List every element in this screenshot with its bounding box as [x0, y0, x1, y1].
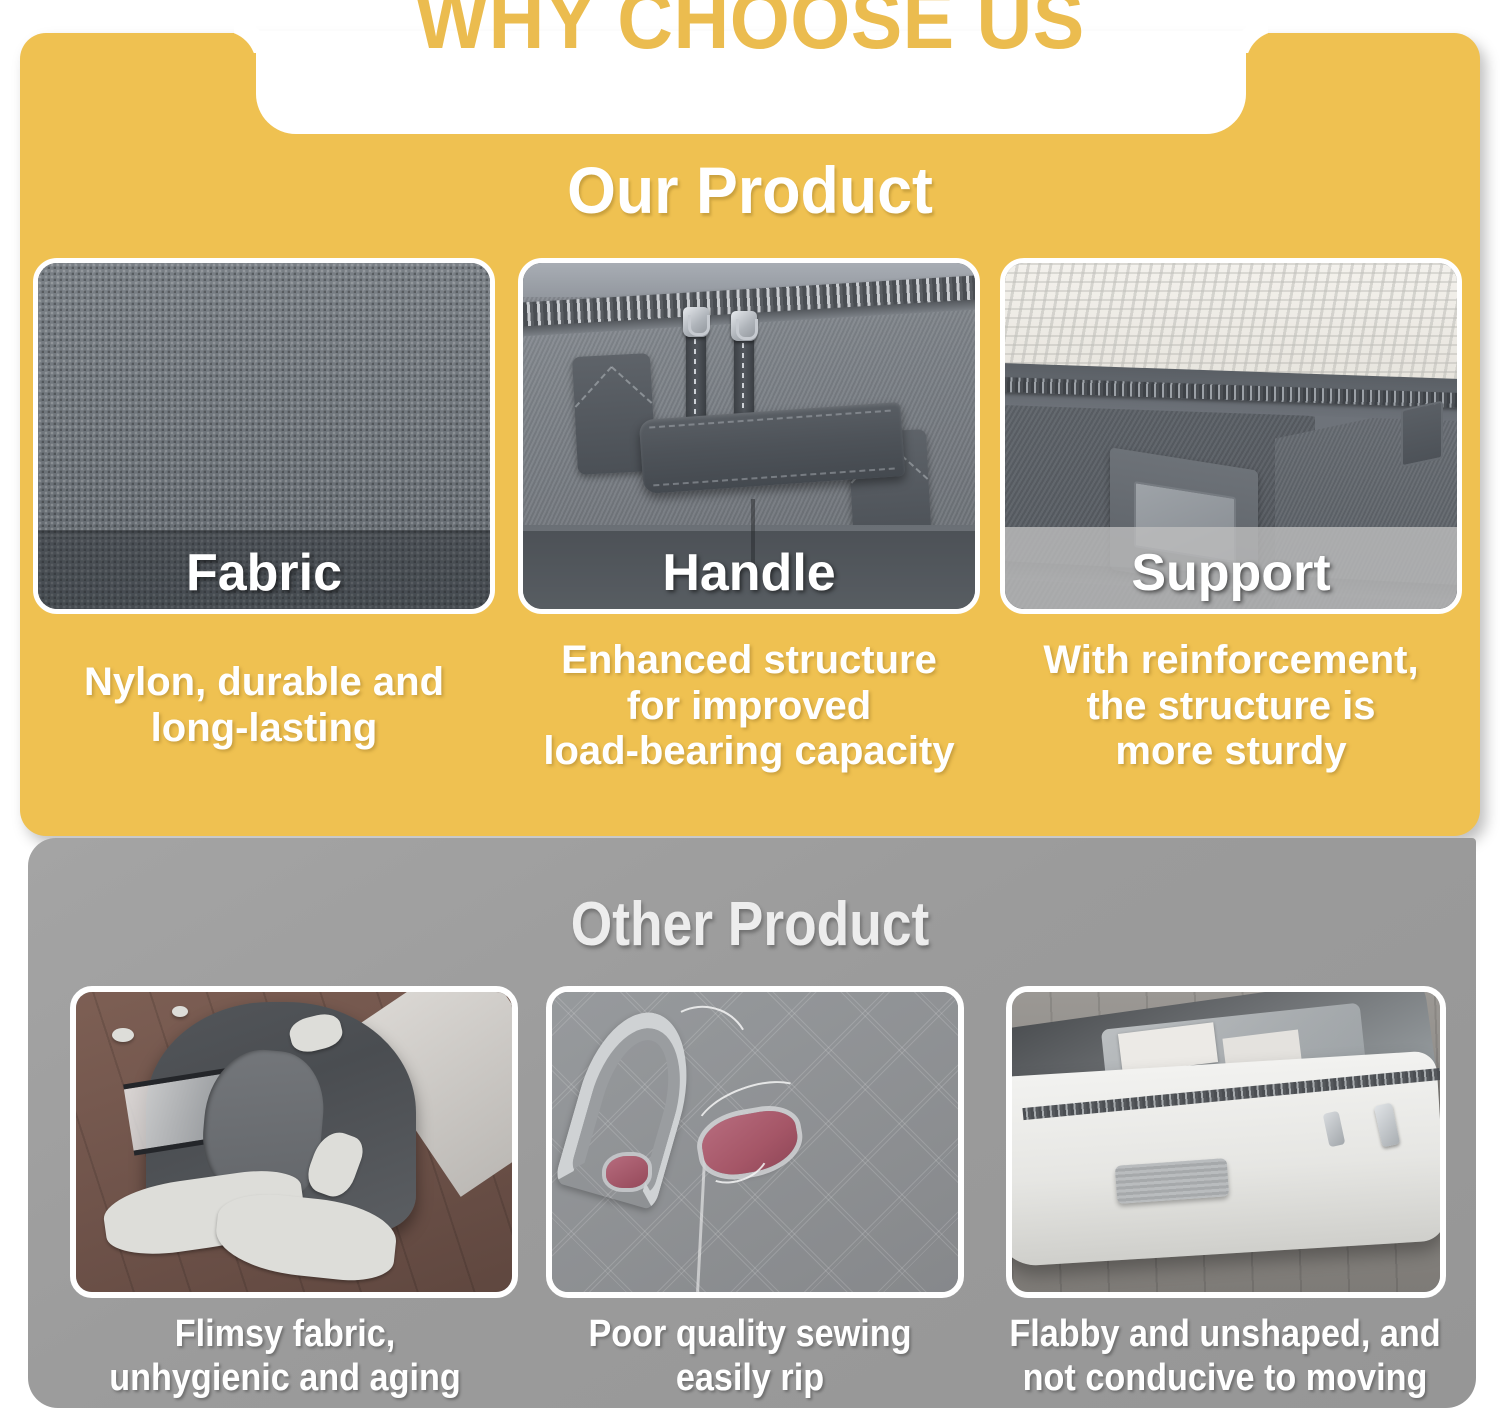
caption-line: Poor quality sewing	[552, 1312, 948, 1356]
flabby-bag-photo	[1012, 992, 1440, 1292]
peeling-debris	[172, 1006, 188, 1017]
side-handle-tab	[1401, 401, 1443, 468]
our-product-tile-support[interactable]: Support	[1000, 258, 1462, 614]
caption-support: With reinforcement, the structure is mor…	[1000, 638, 1462, 775]
poor-sewing-photo	[552, 992, 958, 1292]
page-title: WHY CHOOSE US	[53, 0, 1448, 68]
tile-label-support: Support	[1005, 543, 1457, 609]
our-product-heading: Our Product	[38, 152, 1463, 228]
caption-line: unhygienic and aging	[65, 1356, 506, 1400]
peeling-debris	[112, 1028, 134, 1042]
tile-label-handle: Handle	[523, 543, 975, 609]
caption-line: for improved	[510, 684, 988, 730]
caption-flabby: Flabby and unshaped, and not conducive t…	[1000, 1312, 1450, 1400]
other-product-tile-sewing[interactable]	[546, 986, 964, 1298]
caption-line: more sturdy	[1000, 729, 1462, 775]
caption-fabric: Nylon, durable and long-lasting	[33, 660, 495, 751]
webbing-handle	[1115, 1158, 1229, 1204]
zipper-pull-right	[731, 311, 757, 341]
why-choose-us-infographic: WHY CHOOSE US Our Product Fabric	[0, 0, 1500, 1426]
caption-line: Nylon, durable and	[33, 660, 495, 706]
caption-line: Flabby and unshaped, and	[1000, 1312, 1450, 1356]
our-product-tile-fabric[interactable]: Fabric	[33, 258, 495, 614]
caption-line: easily rip	[552, 1356, 948, 1400]
caption-line: load-bearing capacity	[510, 729, 988, 775]
caption-line: long-lasting	[33, 706, 495, 752]
caption-line: Flimsy fabric,	[65, 1312, 506, 1356]
caption-line: With reinforcement,	[1000, 638, 1462, 684]
zipper-pull-left	[683, 307, 709, 337]
caption-sewing: Poor quality sewing easily rip	[552, 1312, 948, 1400]
caption-line: Enhanced structure	[510, 638, 988, 684]
our-product-tile-handle[interactable]: Handle	[518, 258, 980, 614]
tile-label-fabric: Fabric	[38, 543, 490, 609]
zipper-strap-left	[686, 333, 706, 429]
caption-handle: Enhanced structure for improved load-bea…	[510, 638, 988, 775]
other-product-heading: Other Product	[105, 889, 1395, 960]
ripped-opening-small	[606, 1156, 648, 1188]
other-product-tile-flabby[interactable]	[1006, 986, 1446, 1298]
caption-flimsy: Flimsy fabric, unhygienic and aging	[65, 1312, 506, 1400]
caption-line: the structure is	[1000, 684, 1462, 730]
caption-line: not conducive to moving	[1000, 1356, 1450, 1400]
other-product-tile-flimsy[interactable]	[70, 986, 518, 1298]
flimsy-fabric-photo	[76, 992, 512, 1292]
